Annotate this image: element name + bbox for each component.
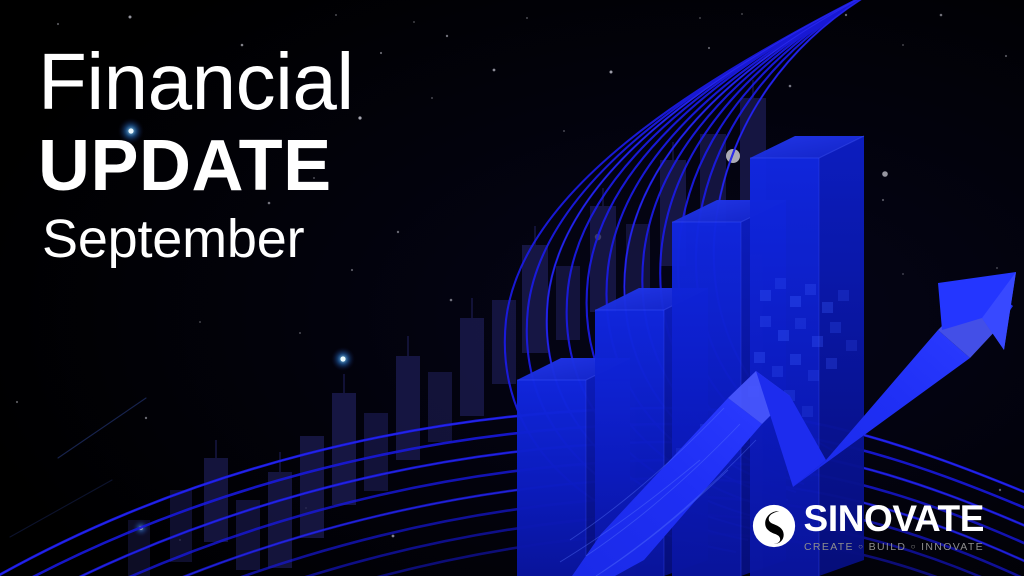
logo-text-group: SINOVATE CREATE ○ BUILD ○ INNOVATE (804, 500, 984, 553)
tagline-separator-2-icon: ○ (911, 542, 917, 551)
tagline-create: CREATE (804, 541, 854, 553)
sinovate-s-circle-icon (752, 504, 796, 548)
headline-line-3: September (42, 212, 504, 266)
poster-canvas: Financial UPDATE September SINOVATE CREA… (0, 0, 1024, 576)
shooting-streaks (10, 398, 146, 537)
curve-fan-top-right (505, 0, 876, 552)
curve-fan-glow (547, 0, 876, 530)
arrow-mesh-highlight (560, 408, 756, 576)
tagline-build: BUILD (869, 541, 907, 553)
headline-line-1: Financial (38, 42, 504, 122)
bar-1 (517, 358, 630, 576)
logo-wordmark: SINOVATE (804, 500, 984, 537)
headline-line-2: UPDATE (38, 130, 504, 202)
sinovate-logo[interactable]: SINOVATE CREATE ○ BUILD ○ INNOVATE (752, 500, 984, 553)
headline-block: Financial UPDATE September (34, 42, 504, 266)
bar-2 (595, 288, 708, 576)
arrow-head (938, 272, 1016, 350)
logo-tagline: CREATE ○ BUILD ○ INNOVATE (804, 542, 984, 553)
pixel-mosaic-squares (676, 278, 857, 473)
tagline-innovate: INNOVATE (921, 541, 984, 553)
tagline-separator-1-icon: ○ (858, 542, 864, 551)
